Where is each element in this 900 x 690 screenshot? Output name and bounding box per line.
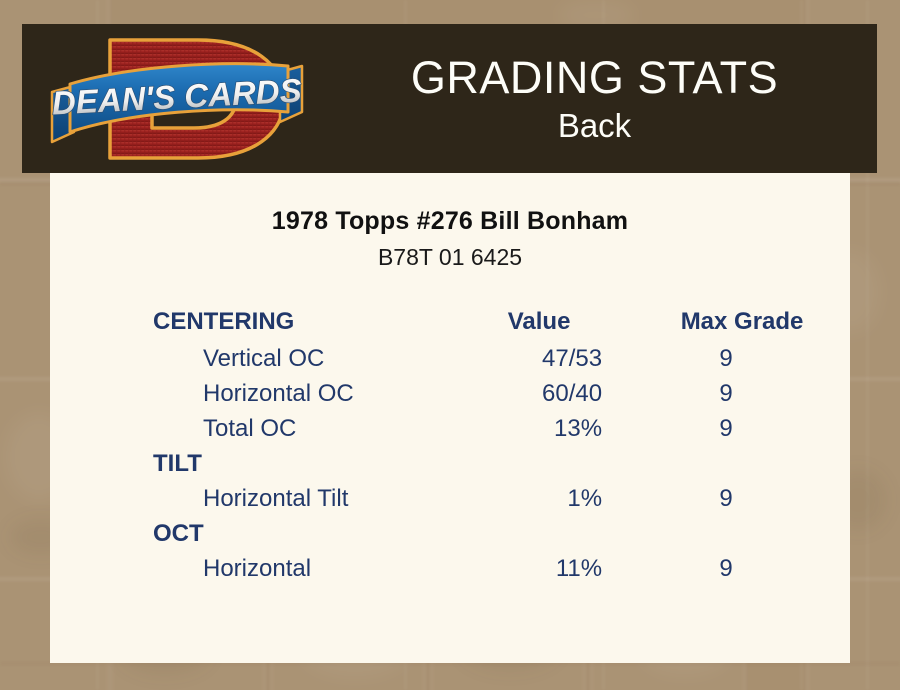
grading-stats-table: CENTERING Value Max Grade Vertical OC 47… <box>50 303 850 586</box>
row-max-grade: 9 <box>654 341 850 376</box>
table-row: Horizontal 11% 9 <box>50 551 850 586</box>
content-panel: 1978 Topps #276 Bill Bonham B78T 01 6425… <box>50 173 850 663</box>
section-heading-row: TILT <box>50 446 850 481</box>
section-spacer <box>454 516 654 551</box>
section-spacer <box>454 446 654 481</box>
row-value: 11% <box>454 551 654 586</box>
section-heading-row: OCT <box>50 516 850 551</box>
row-label: Horizontal Tilt <box>50 481 454 516</box>
column-header-value: Value <box>454 303 654 341</box>
row-max-grade: 9 <box>654 376 850 411</box>
table-row: Total OC 13% 9 <box>50 411 850 446</box>
stats-table-body: CENTERING Value Max Grade Vertical OC 47… <box>50 303 850 586</box>
section-spacer <box>654 446 850 481</box>
row-label: Horizontal OC <box>50 376 454 411</box>
row-label: Horizontal <box>50 551 454 586</box>
page-title: GRADING STATS <box>411 52 778 104</box>
row-value: 60/40 <box>454 376 654 411</box>
card-title: 1978 Topps #276 Bill Bonham <box>50 207 850 236</box>
card-id: B78T 01 6425 <box>50 244 850 271</box>
table-row: Horizontal OC 60/40 9 <box>50 376 850 411</box>
row-label: Vertical OC <box>50 341 454 376</box>
header-title-group: GRADING STATS Back <box>312 24 877 173</box>
section-spacer <box>654 516 850 551</box>
row-max-grade: 9 <box>654 551 850 586</box>
row-value: 13% <box>454 411 654 446</box>
section-heading-centering: CENTERING <box>50 303 454 341</box>
row-value: 47/53 <box>454 341 654 376</box>
page-subtitle: Back <box>558 106 631 146</box>
row-value: 1% <box>454 481 654 516</box>
section-heading-tilt: TILT <box>50 446 454 481</box>
header-bar: DEAN'S CARDS GRADING STATS Back <box>22 24 877 173</box>
column-header-max-grade: Max Grade <box>654 303 850 341</box>
table-row: Vertical OC 47/53 9 <box>50 341 850 376</box>
deans-cards-logo: DEAN'S CARDS <box>48 26 306 172</box>
table-header-row: CENTERING Value Max Grade <box>50 303 850 341</box>
table-row: Horizontal Tilt 1% 9 <box>50 481 850 516</box>
row-max-grade: 9 <box>654 411 850 446</box>
row-label: Total OC <box>50 411 454 446</box>
section-heading-oct: OCT <box>50 516 454 551</box>
row-max-grade: 9 <box>654 481 850 516</box>
